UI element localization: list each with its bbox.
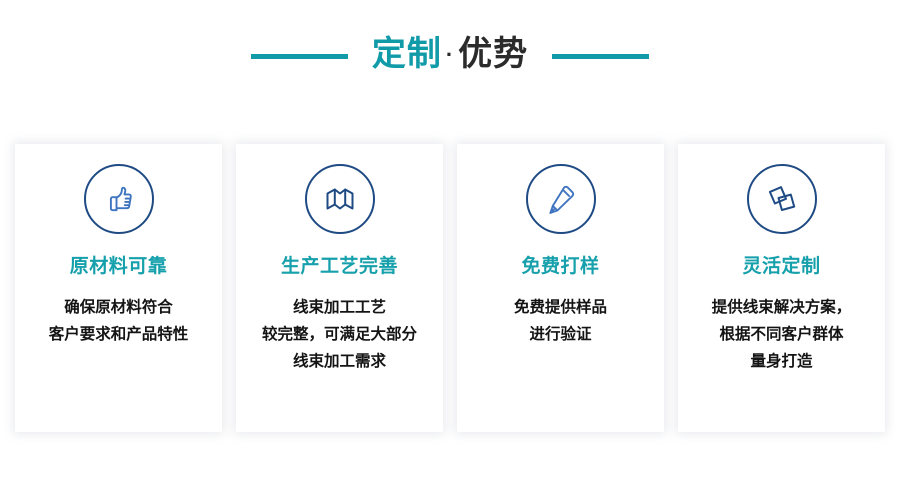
heading-main-text: 优势	[458, 35, 528, 73]
icon-circle	[84, 164, 154, 234]
feature-card-description: 线束加工工艺 较完整，可满足大部分 线束加工需求	[247, 294, 432, 375]
feature-card-description: 提供线束解决方案， 根据不同客户群体 量身打造	[689, 294, 874, 375]
feature-card-description: 免费提供样品 进行验证	[468, 294, 653, 348]
heading-rule-left	[251, 54, 348, 59]
desc-line: 线束加工需求	[247, 348, 432, 375]
desc-line: 提供线束解决方案，	[689, 294, 874, 321]
feature-card-title: 生产工艺完善	[281, 254, 398, 280]
desc-line: 较完整，可满足大部分	[247, 321, 432, 348]
heading-accent-text: 定制	[372, 35, 442, 73]
feature-card[interactable]: 原材料可靠 确保原材料符合 客户要求和产品特性	[15, 144, 222, 432]
heading-separator-dot: ·	[442, 42, 458, 67]
heading-rule-right	[552, 54, 649, 59]
stacked-cards-icon	[765, 182, 799, 216]
section-heading: 定制·优势	[0, 30, 900, 82]
desc-line: 量身打造	[689, 348, 874, 375]
feature-card-title: 免费打样	[521, 254, 599, 280]
feature-card-description: 确保原材料符合 客户要求和产品特性	[26, 294, 211, 348]
feature-card[interactable]: 免费打样 免费提供样品 进行验证	[457, 144, 664, 432]
feature-card[interactable]: 灵活定制 提供线束解决方案， 根据不同客户群体 量身打造	[678, 144, 885, 432]
page-title: 定制·优势	[372, 32, 528, 80]
icon-circle	[747, 164, 817, 234]
icon-circle	[305, 164, 375, 234]
desc-line: 确保原材料符合	[26, 294, 211, 321]
feature-card-list: 原材料可靠 确保原材料符合 客户要求和产品特性 生产工艺完善 线束加工工艺	[15, 144, 885, 432]
feature-card[interactable]: 生产工艺完善 线束加工工艺 较完整，可满足大部分 线束加工需求	[236, 144, 443, 432]
desc-line: 进行验证	[468, 321, 653, 348]
promo-section: 定制·优势 原材料可靠 确保原材料符合 客	[0, 0, 900, 499]
thumbs-up-icon	[101, 181, 137, 217]
folded-map-icon	[323, 182, 357, 216]
desc-line: 客户要求和产品特性	[26, 321, 211, 348]
feature-card-title: 灵活定制	[742, 254, 820, 280]
desc-line: 根据不同客户群体	[689, 321, 874, 348]
icon-circle	[526, 164, 596, 234]
feature-card-title: 原材料可靠	[70, 254, 168, 280]
desc-line: 免费提供样品	[468, 294, 653, 321]
desc-line: 线束加工工艺	[247, 294, 432, 321]
pencil-icon	[544, 182, 578, 216]
